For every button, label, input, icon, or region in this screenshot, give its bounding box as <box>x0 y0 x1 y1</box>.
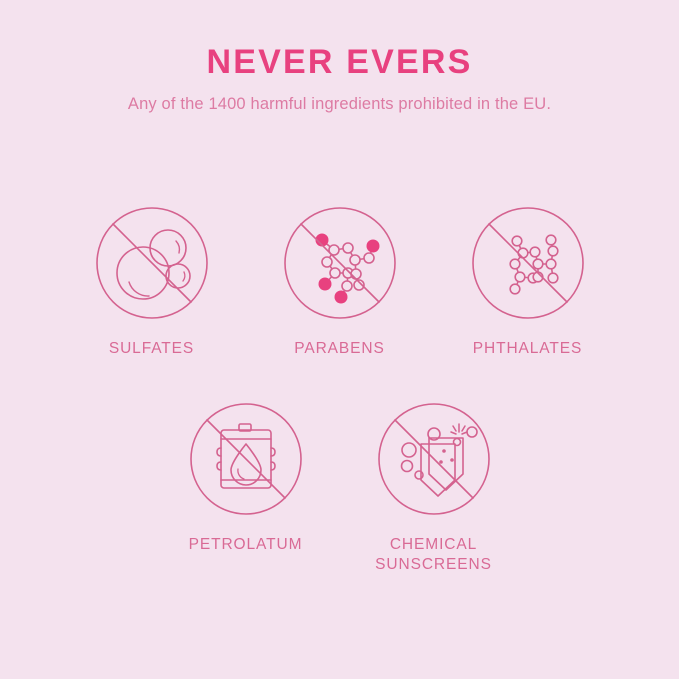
icon-label: PHTHALATES <box>473 339 583 359</box>
icon-label: PETROLATUM <box>189 535 303 555</box>
icon-label: CHEMICAL SUNSCREENS <box>375 535 492 575</box>
no-petrolatum-barrel-icon <box>183 396 309 522</box>
icon-label: SULFATES <box>109 339 194 359</box>
icon-row-bottom: PETROLATUM <box>0 396 679 575</box>
page-title: NEVER EVERS <box>0 44 679 81</box>
icon-cell-phthalates: PHTHALATES <box>434 200 622 359</box>
icon-cell-parabens: PARABENS <box>246 200 434 359</box>
page-subtitle: Any of the 1400 harmful ingredients proh… <box>0 95 679 115</box>
never-evers-infographic: NEVER EVERS Any of the 1400 harmful ingr… <box>0 0 679 679</box>
no-phthalates-molecule-icon <box>465 200 591 326</box>
no-chemical-sunscreens-shield-icon <box>371 396 497 522</box>
icon-cell-petrolatum: PETROLATUM <box>152 396 340 575</box>
icon-cell-sulfates: SULFATES <box>58 200 246 359</box>
icon-label: PARABENS <box>294 339 384 359</box>
icon-cell-chemical-sunscreens: CHEMICAL SUNSCREENS <box>340 396 528 575</box>
no-parabens-molecule-icon <box>277 200 403 326</box>
no-sulfates-bubbles-icon <box>89 200 215 326</box>
icon-row-top: SULFATES <box>0 200 679 359</box>
